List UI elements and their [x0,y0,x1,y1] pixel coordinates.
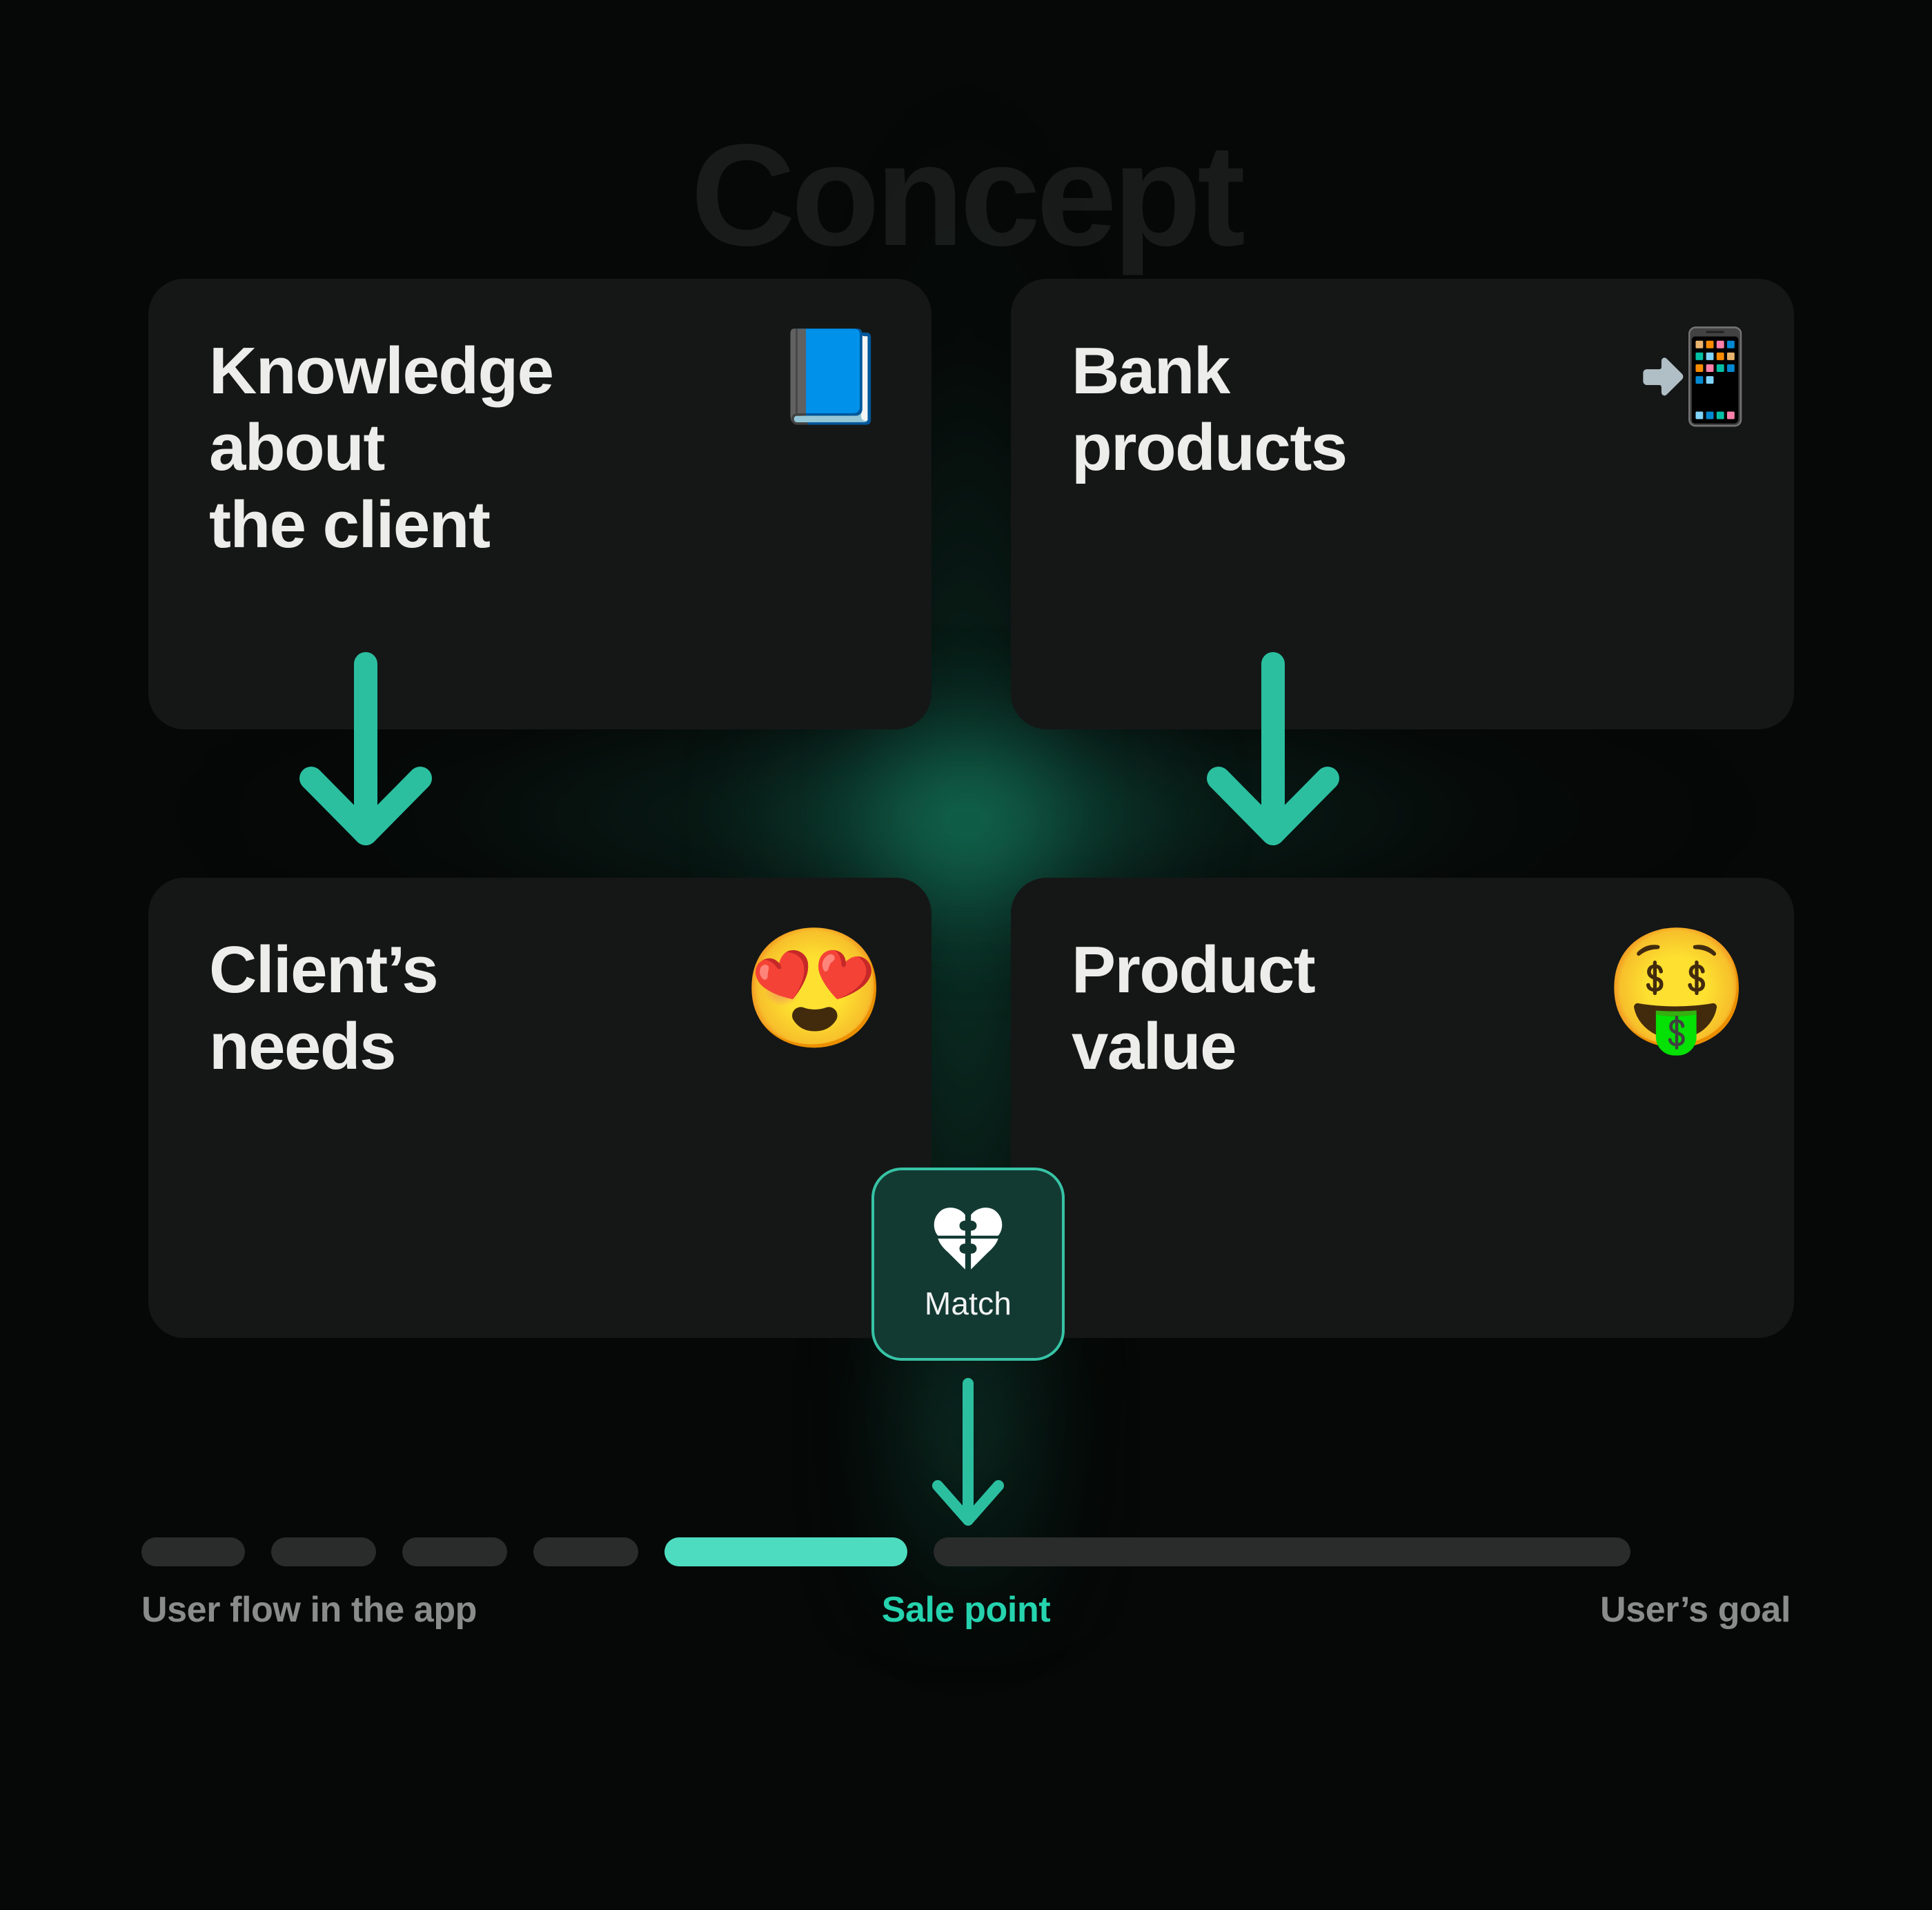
card-title-product-value: Product value [1072,927,1314,1085]
progress-segment[interactable] [533,1537,638,1566]
card-title-clients-needs: Client’s needs [209,927,437,1085]
arrow-down-left-column [290,649,442,856]
arrow-down-from-match [927,1377,1009,1535]
progress-bar[interactable] [141,1537,1791,1566]
page-title-watermark: Concept [0,123,1932,268]
legend-sale-point: Sale point [882,1589,1050,1631]
card-clients-needs[interactable]: Client’s needs 😍 [148,878,931,1338]
progress-legend: User flow in the app Sale point User’s g… [141,1589,1791,1651]
progress-segment[interactable] [402,1537,507,1566]
legend-user-flow: User flow in the app [141,1589,477,1631]
progress-segment[interactable] [141,1537,245,1566]
card-product-value[interactable]: Product value 🤑 [1011,878,1794,1338]
match-badge-label: Match [925,1285,1012,1322]
card-bank-products[interactable]: Bank products 📲 [1011,279,1794,729]
legend-users-goal: User’s goal [1600,1589,1791,1631]
blue-book-icon: 📘 [774,328,887,422]
card-knowledge-about-client[interactable]: Knowledge about the client 📘 [148,279,931,729]
concept-slide: Concept Knowledge about the client 📘 Ban… [0,0,1932,1910]
progress-segment-active[interactable] [664,1537,907,1566]
card-title-knowledge: Knowledge about the client [209,328,553,563]
mobile-phone-with-arrow-icon: 📲 [1637,328,1750,422]
money-mouth-face-icon: 🤑 [1604,927,1750,1047]
progress-segment[interactable] [934,1537,1630,1566]
card-title-bank-products: Bank products [1072,328,1347,486]
smiling-face-with-heart-eyes-icon: 😍 [741,927,887,1047]
progress-segment[interactable] [271,1537,376,1566]
match-badge[interactable]: Match [871,1168,1065,1361]
puzzle-heart-icon [932,1206,1004,1272]
arrow-down-right-column [1197,649,1349,856]
